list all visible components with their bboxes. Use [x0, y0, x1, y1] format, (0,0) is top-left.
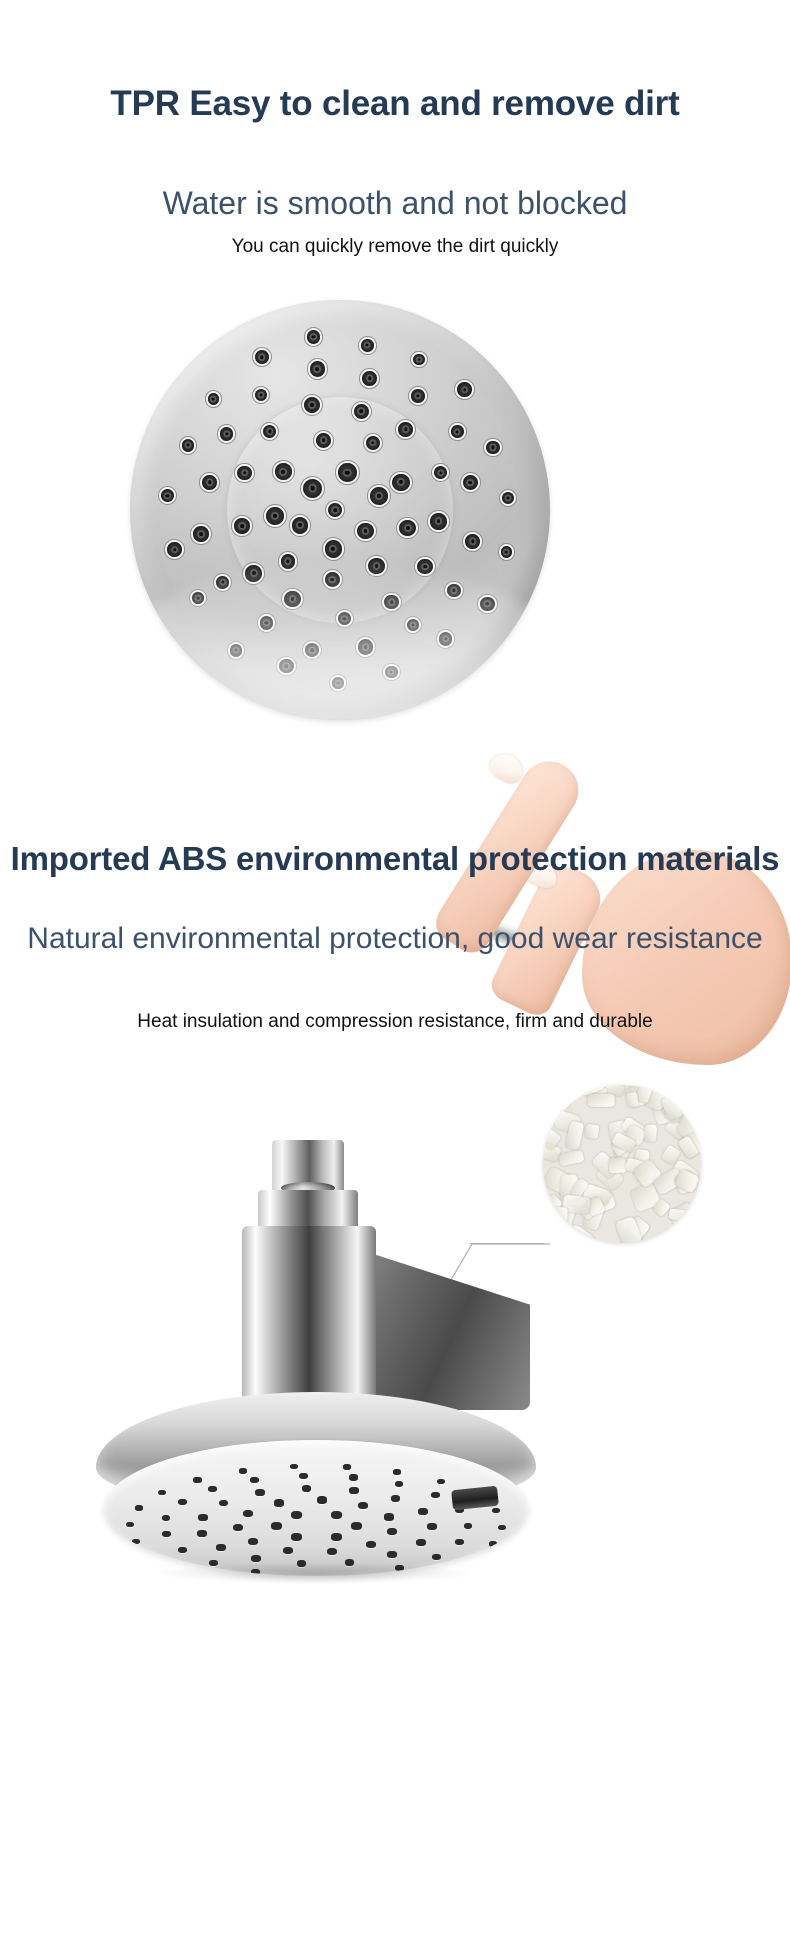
nozzle — [355, 521, 376, 542]
nozzle — [258, 614, 276, 632]
jet-nozzle — [351, 1522, 362, 1530]
jet-nozzle — [343, 1464, 351, 1470]
jet-nozzle — [283, 1547, 293, 1554]
product-detail-page: TPR Easy to clean and remove dirt Water … — [0, 0, 790, 1950]
nozzle — [500, 490, 517, 507]
jet-nozzle — [349, 1487, 359, 1494]
nozzle — [243, 563, 264, 584]
jet-nozzle — [162, 1531, 171, 1537]
nozzle — [159, 487, 177, 505]
shower-face-disc-wrap — [130, 300, 550, 720]
section-2-note: Heat insulation and compression resistan… — [0, 1008, 790, 1035]
jet-nozzle — [162, 1515, 171, 1521]
abs-pellet — [585, 1124, 599, 1139]
nozzle — [191, 524, 211, 544]
jet-nozzle — [455, 1539, 464, 1545]
nozzle — [405, 617, 422, 634]
nozzle — [356, 637, 376, 657]
abs-pellet — [549, 1089, 570, 1110]
section-2-subtitle: Natural environmental protection, good w… — [0, 920, 790, 958]
nozzle — [253, 348, 272, 367]
abs-pellet — [554, 1207, 567, 1226]
nozzle — [437, 630, 455, 648]
jet-nozzle — [274, 1499, 284, 1506]
jet-nozzle — [291, 1533, 302, 1541]
nozzle — [449, 423, 466, 440]
jet-nozzle — [331, 1533, 342, 1541]
abs-pellet-closeup-inset — [543, 1085, 701, 1243]
nozzle — [330, 675, 346, 691]
jet-nozzle — [251, 1555, 261, 1562]
section-1-subtitle: Water is smooth and not blocked — [0, 184, 790, 222]
jet-nozzle — [418, 1508, 428, 1515]
nozzle — [214, 574, 231, 591]
nozzle — [336, 461, 359, 484]
jet-nozzle — [427, 1523, 437, 1530]
nozzle — [218, 425, 236, 443]
nozzle — [359, 337, 376, 354]
abs-pellet — [625, 1092, 638, 1107]
jet-nozzle — [395, 1481, 404, 1487]
nozzle — [277, 657, 296, 676]
nozzle — [463, 532, 482, 551]
jet-nozzle — [358, 1502, 368, 1509]
jet-nozzle — [387, 1528, 397, 1535]
nozzle — [165, 540, 184, 559]
jet-nozzle — [193, 1477, 201, 1483]
abs-pellet — [692, 1213, 701, 1227]
jet-nozzle — [178, 1547, 187, 1553]
jet-nozzle — [416, 1539, 426, 1546]
abs-pellet — [588, 1094, 615, 1107]
nozzle — [409, 387, 427, 405]
nozzle — [397, 518, 418, 539]
nozzle — [383, 664, 400, 681]
jet-nozzle — [331, 1511, 342, 1519]
jet-nozzle — [271, 1522, 282, 1530]
nozzle — [273, 461, 294, 482]
jet-nozzle — [317, 1496, 327, 1503]
jet-nozzle — [216, 1544, 226, 1551]
jet-nozzle — [233, 1524, 243, 1531]
jet-nozzle — [391, 1495, 401, 1502]
shower-face-disc — [130, 300, 550, 720]
nozzle — [360, 369, 379, 388]
jet-nozzle — [290, 1464, 298, 1470]
nozzle — [366, 556, 387, 577]
nozzle — [253, 387, 270, 404]
nozzle — [368, 485, 390, 507]
nozzle — [305, 328, 323, 346]
nozzle — [180, 437, 197, 454]
nozzle — [206, 391, 222, 407]
jet-nozzle — [498, 1525, 506, 1531]
nozzle — [390, 472, 412, 494]
shower-head-face-image — [0, 290, 790, 790]
jet-nozzle — [299, 1473, 308, 1479]
jet-nozzle — [432, 1554, 441, 1560]
jet-nozzle — [126, 1522, 134, 1528]
jet-nozzle — [178, 1499, 187, 1505]
jet-nozzle — [135, 1505, 143, 1511]
jet-nozzle — [291, 1511, 302, 1519]
nozzle — [200, 473, 219, 492]
jet-nozzle — [387, 1551, 397, 1558]
jet-nozzle — [208, 1486, 217, 1492]
section-1-title: TPR Easy to clean and remove dirt — [0, 82, 790, 125]
nozzle — [235, 464, 254, 483]
jet-nozzle — [431, 1492, 440, 1498]
jet-nozzle — [464, 1523, 473, 1529]
jet-nozzle — [132, 1539, 140, 1545]
nozzle — [303, 641, 322, 660]
jet-nozzle — [393, 1469, 401, 1475]
jet-nozzle — [466, 1557, 474, 1563]
section-2-title: Imported ABS environmental protection ma… — [0, 838, 790, 879]
jet-nozzle — [243, 1510, 253, 1517]
jet-nozzle — [255, 1489, 265, 1496]
nozzle — [190, 590, 206, 606]
shower-head-inlet-nut — [272, 1140, 344, 1196]
nozzle — [279, 552, 298, 571]
nozzle — [336, 610, 354, 628]
nozzle — [396, 420, 415, 439]
nozzle — [323, 538, 345, 560]
abs-pellet — [608, 1158, 626, 1174]
nozzle — [228, 642, 245, 659]
jet-nozzle — [302, 1485, 312, 1492]
nozzle — [232, 516, 252, 536]
jet-nozzle — [437, 1479, 445, 1485]
jet-nozzle — [489, 1541, 497, 1547]
nozzle — [478, 595, 497, 614]
jet-nozzle — [366, 1541, 376, 1548]
nozzle — [264, 505, 286, 527]
shower-head-barrel — [242, 1226, 376, 1406]
jet-nozzle — [239, 1468, 247, 1474]
nozzle — [282, 589, 303, 610]
jet-nozzle — [219, 1500, 229, 1507]
nozzle — [415, 557, 435, 577]
nozzle — [323, 570, 343, 590]
jet-nozzle — [492, 1508, 500, 1514]
nozzle — [445, 582, 463, 600]
jet-nozzle — [327, 1548, 337, 1555]
nozzle — [455, 380, 474, 399]
nozzle — [461, 473, 481, 493]
nozzle — [382, 593, 401, 612]
jet-nozzle — [250, 1477, 259, 1483]
jet-nozzle — [384, 1513, 394, 1520]
section-1-note: You can quickly remove the dirt quickly — [0, 234, 790, 260]
nozzle — [484, 439, 502, 457]
jet-nozzle — [197, 1530, 207, 1537]
nozzle — [308, 359, 328, 379]
nozzle — [352, 402, 372, 422]
nozzle — [499, 544, 515, 560]
jet-nozzle — [349, 1474, 358, 1480]
jet-nozzle — [153, 1554, 161, 1560]
jet-nozzle — [248, 1538, 258, 1545]
abs-pellet — [644, 1125, 657, 1142]
nozzle — [428, 511, 449, 532]
product-shadow — [150, 1562, 480, 1584]
jet-nozzle — [198, 1514, 208, 1521]
abs-pellet — [558, 1149, 584, 1166]
jet-nozzle — [158, 1490, 166, 1496]
nozzle — [411, 352, 427, 368]
nozzle — [290, 515, 311, 536]
